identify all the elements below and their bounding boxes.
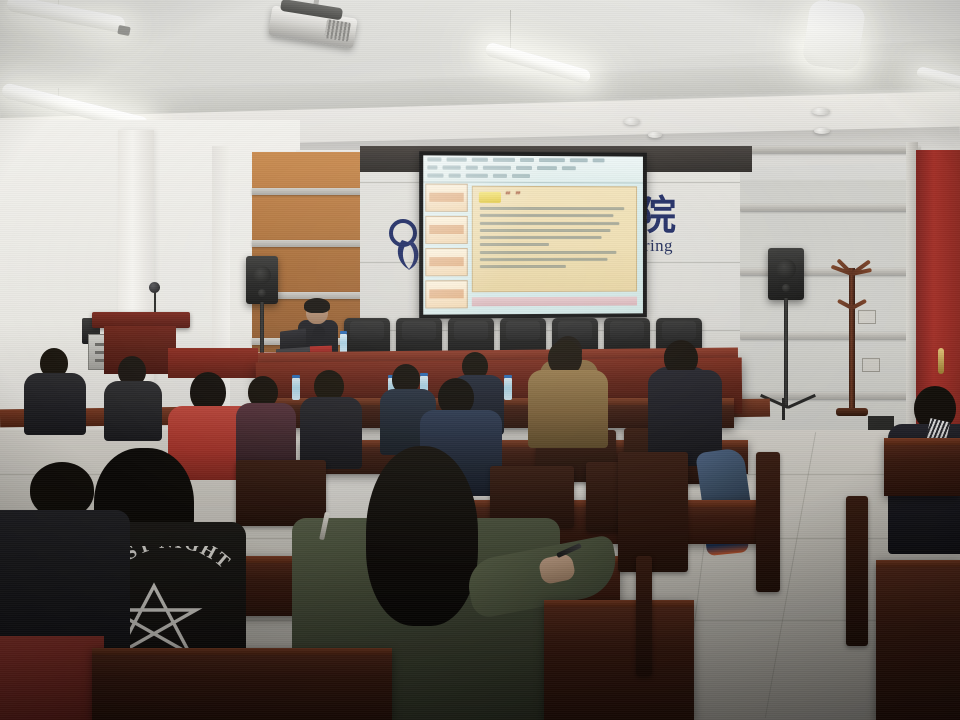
ribbon-chip: [493, 158, 515, 162]
slide-thumbnail[interactable]: [425, 280, 467, 308]
ribbon-chip: [447, 157, 467, 161]
slide-text-line: [480, 243, 549, 246]
bottle-cap: [340, 331, 347, 334]
slide-footer-bar: [472, 297, 637, 307]
wood-trim: [252, 240, 370, 247]
speaker-tweeter: [782, 284, 790, 292]
slide-text-line: [480, 236, 602, 239]
slide-body: [480, 207, 628, 272]
chair-leg: [636, 556, 652, 676]
aisle-chair: [618, 452, 688, 572]
desk-surface: [876, 560, 960, 567]
ribbon-chip: [593, 158, 605, 162]
microphone-icon: [149, 282, 160, 293]
current-slide: “ ”: [472, 186, 637, 292]
wood-trim: [740, 146, 920, 153]
bottle-cap: [292, 375, 300, 378]
desk-surface: [884, 438, 960, 445]
audience-desk-right-near: [876, 560, 960, 720]
desk-surface: [92, 648, 392, 655]
projection-surface: “ ”: [423, 155, 643, 314]
bottle-cap: [504, 375, 512, 378]
slide-text-line: [480, 207, 624, 210]
ribbon-chip: [466, 174, 488, 178]
slide-thumbnail[interactable]: [425, 248, 467, 276]
slide-text-line: [480, 251, 617, 254]
person-torso: [24, 373, 86, 435]
ribbon-chip: [539, 158, 565, 162]
ribbon-chip: [427, 157, 441, 161]
ribbon-chip: [537, 166, 557, 170]
ribbon-chip: [562, 166, 576, 170]
wood-trim: [740, 268, 920, 275]
water-bottle: [504, 378, 512, 400]
door-handle[interactable]: [938, 348, 944, 374]
ribbon-row: [423, 171, 643, 180]
audience-desk-right: [884, 438, 960, 496]
slide-text-line: [480, 258, 608, 261]
ceiling-light-4: [802, 0, 867, 72]
person-hair: [366, 446, 478, 626]
water-bottle: [292, 378, 300, 400]
slide-thumbnail-panel[interactable]: [425, 184, 467, 311]
ribbon-chip: [516, 166, 532, 170]
bottle-cap: [420, 373, 428, 376]
chair-leg: [756, 452, 780, 592]
projector-vent: [324, 19, 351, 42]
ribbon-chip: [466, 166, 478, 170]
slide-text-line: [480, 229, 611, 232]
pa-speaker-right: [768, 248, 804, 300]
speaker-stand-pole-left: [260, 302, 264, 356]
slide-title: “ ”: [505, 191, 521, 201]
presenter-hair: [304, 298, 330, 313]
slide-text-line: [480, 265, 566, 268]
ribbon-chip: [493, 174, 507, 178]
desk-surface: [544, 600, 694, 607]
lecture-hall-photo: 院 eering: [0, 0, 960, 720]
coat-rack-base: [836, 408, 868, 416]
chair-leg: [846, 496, 868, 646]
foreground-red-item: [0, 636, 104, 720]
ceiling-mount: [812, 108, 830, 115]
wall-outlet: [862, 358, 880, 372]
wood-trim: [740, 332, 920, 339]
speaker-tweeter: [258, 289, 266, 297]
speaker-cone: [253, 266, 271, 284]
ribbon-chip: [483, 166, 511, 170]
slide-text-line: [480, 214, 614, 217]
projection-screen: “ ”: [419, 151, 647, 318]
ribbon-chip: [449, 174, 461, 178]
person-torso: [528, 370, 608, 448]
pa-speaker-left: [246, 256, 278, 304]
ribbon-chip: [520, 158, 534, 162]
ribbon-chip: [427, 165, 437, 169]
coat-rack: [849, 268, 855, 414]
speaker-stand-pole-right: [784, 298, 788, 406]
wall-outlet: [858, 310, 876, 324]
ceiling-mount: [624, 118, 640, 125]
ribbon-chip: [443, 166, 461, 170]
ribbon-chip: [472, 158, 488, 162]
presentation-app-ribbon: [423, 155, 643, 183]
wood-trim: [740, 204, 920, 211]
ribbon-chip: [512, 174, 530, 178]
wood-trim: [252, 188, 370, 195]
speaker-stand-leg: [782, 398, 785, 420]
ribbon-chip: [427, 174, 443, 178]
slide-thumbnail[interactable]: [425, 184, 467, 212]
foreground-desk-near: [92, 648, 392, 720]
ribbon-chip: [570, 158, 588, 162]
slide-thumbnail[interactable]: [425, 216, 467, 244]
foreground-desk-right: [544, 600, 694, 720]
person-torso: [104, 381, 162, 441]
slide-text-line: [480, 222, 620, 225]
slide-badge: [479, 192, 501, 203]
speaker-cone: [776, 259, 796, 279]
ceiling-mount: [648, 132, 662, 138]
